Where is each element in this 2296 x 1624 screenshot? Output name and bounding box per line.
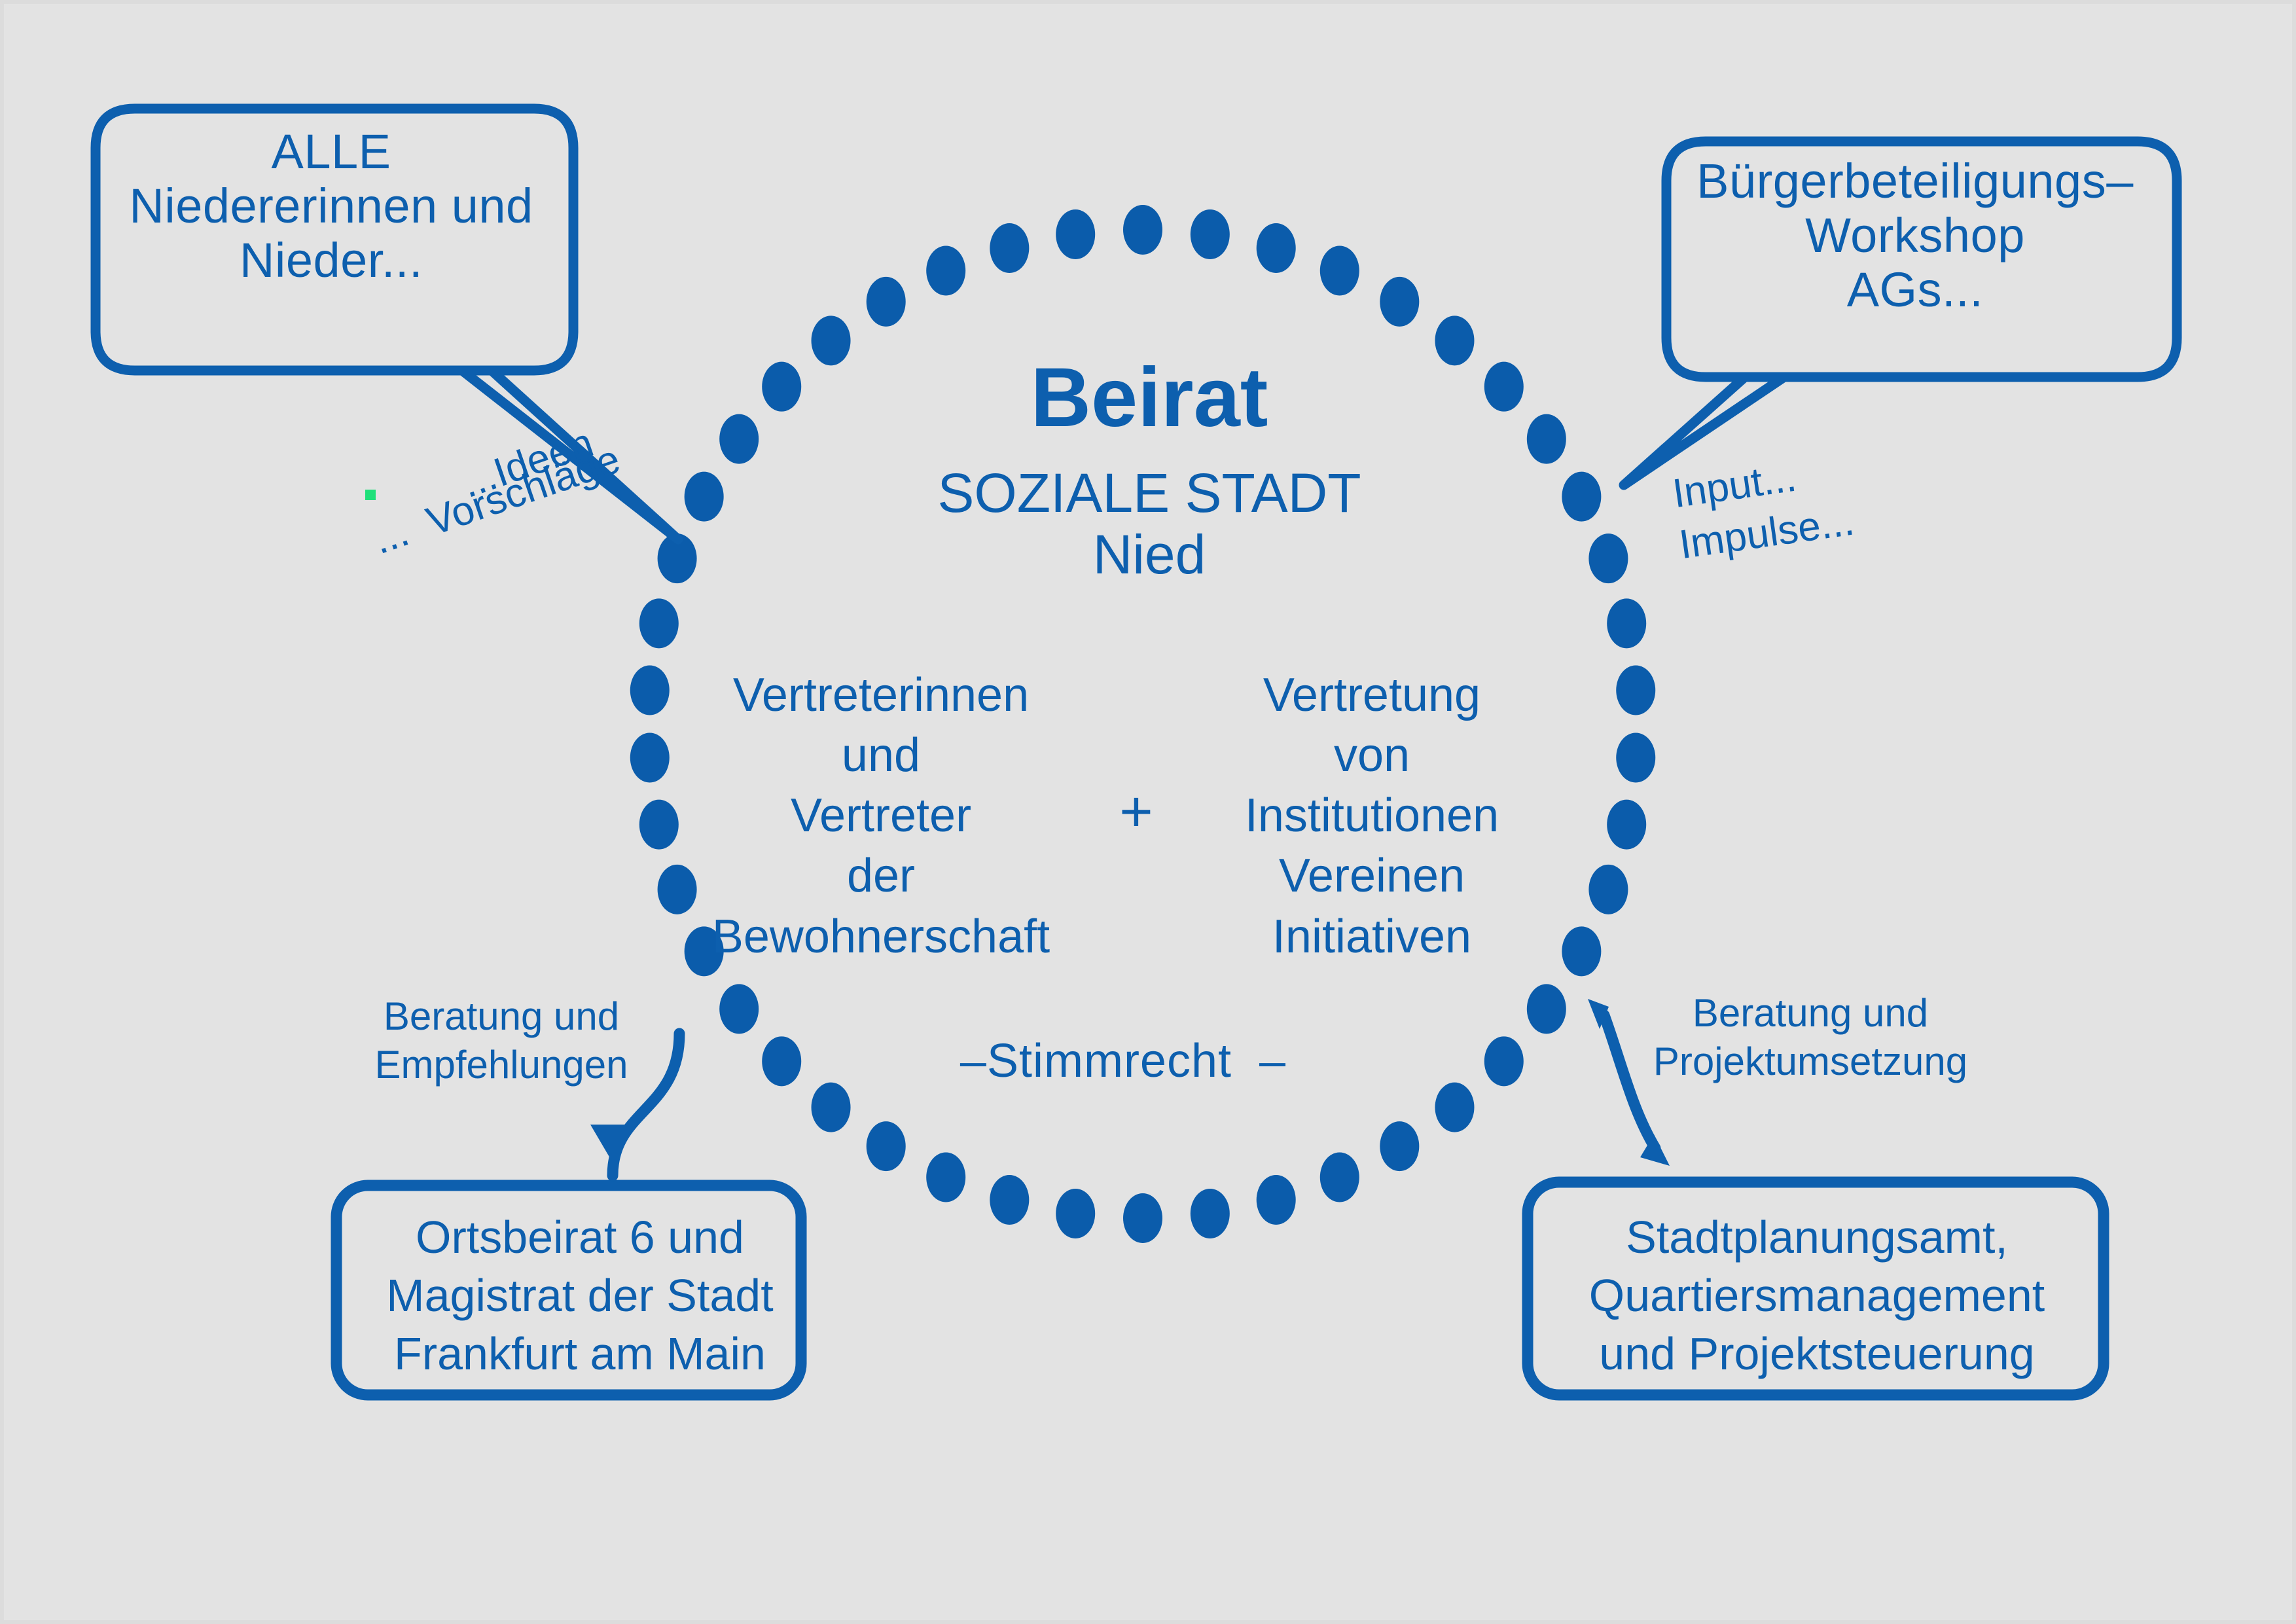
green-square-marker-icon (365, 490, 376, 500)
page-title: Beirat (789, 351, 1509, 444)
page-subtitle-line2: Nied (1093, 524, 1206, 585)
page-subtitle-line1: SOZIALE STADT (937, 462, 1361, 524)
member-column-residents: Vertreterinnen und Vertreter der Bewohne… (678, 665, 1084, 967)
member-column-institutions: Vertretung von Institutionen Vereinen In… (1182, 665, 1562, 967)
box-bottom-left-text: Ortsbeirat 6 und Magistrat der Stadt Fra… (344, 1208, 816, 1383)
voting-rights-note: –Stimmrecht – (920, 1035, 1326, 1088)
arrow-label-beratung-empfehlungen: Beratung und Empfehlungen (351, 992, 652, 1090)
speech-bubble-top-left-text: ALLE Niedererinnen und Nieder... (96, 125, 567, 288)
page-subtitle: SOZIALE STADTNied (789, 462, 1509, 585)
curved-arrow-down-head (590, 1125, 635, 1163)
speech-bubble-top-right-text: Bürgerbeteiligungs– Workshop AGs... (1679, 154, 2151, 317)
plus-operator: + (1077, 780, 1195, 844)
arrow-label-beratung-projektumsetzung: Beratung und Projektumsetzung (1647, 989, 1974, 1087)
box-bottom-right-text: Stadtplanungsamt, Quartiersmanagement un… (1529, 1208, 2105, 1383)
diagram-canvas: ALLE Niedererinnen und Nieder... Bürgerb… (0, 0, 2296, 1624)
